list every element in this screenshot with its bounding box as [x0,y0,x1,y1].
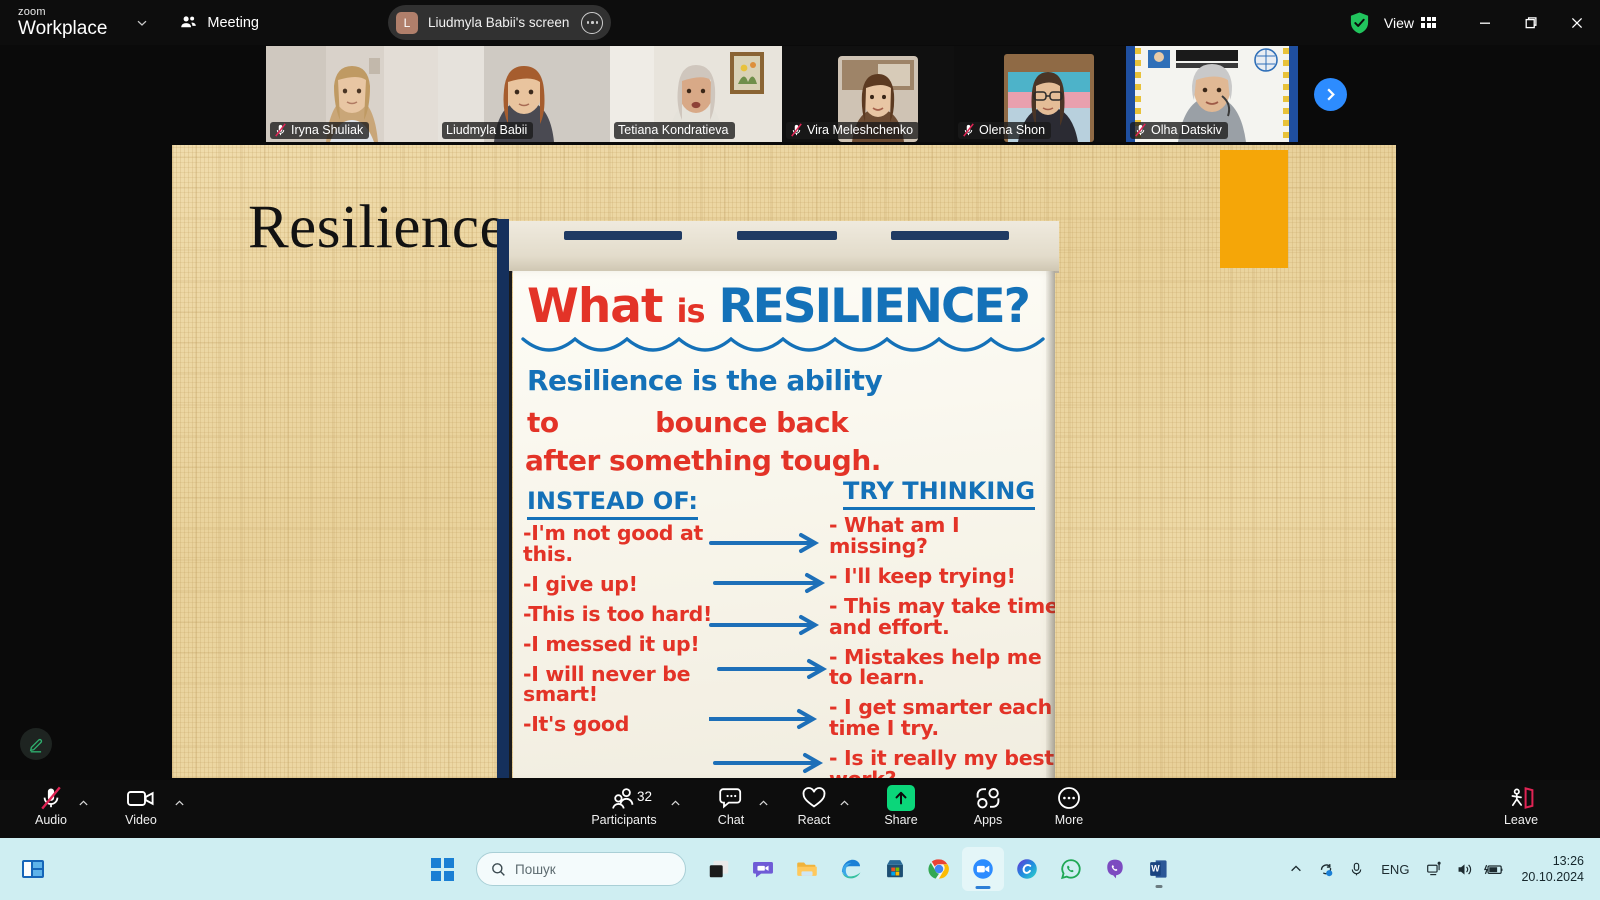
share-arrow-up-icon [887,785,915,811]
clock-date: 20.10.2024 [1521,869,1584,885]
definition-line-2: to bounce back [527,409,848,437]
definition-line-1: Resilience is the ability [527,367,882,395]
list-item: -I will never be smart! [523,664,723,706]
microphone-muted-icon [790,123,803,137]
more-button[interactable]: More [1032,785,1106,835]
list-item: - Mistakes help me to learn. [829,647,1055,689]
search-placeholder: Пошук [515,862,556,877]
svg-text:W: W [1151,864,1160,874]
close-icon[interactable] [1554,0,1600,45]
participant-name: Olena Shon [979,123,1045,137]
word-icon[interactable]: W [1138,847,1180,891]
list-item: - Is it really my best work? [829,748,1055,778]
view-button[interactable]: View [1384,15,1436,31]
zoom-meeting-window: zoom Workplace Meeting L Liudmyla Babii'… [0,0,1600,900]
slide-title: Resilience [248,193,507,263]
chevron-right-icon [1323,87,1338,102]
participants-label: Participants [591,814,656,827]
annotate-button[interactable] [20,728,52,760]
video-button[interactable]: Video [104,785,178,835]
apps-button[interactable]: Apps [951,785,1025,835]
chart-heading-part1: What [527,279,663,334]
clip-bar [737,231,837,240]
video-options-caret[interactable] [170,794,188,812]
more-label: More [1055,814,1083,827]
battery-charging-icon[interactable] [1481,854,1507,884]
file-explorer-icon[interactable] [786,847,828,891]
shared-screen-pill[interactable]: L Liudmyla Babii's screen [388,5,611,40]
title-bar: zoom Workplace Meeting L Liudmyla Babii'… [0,0,1600,45]
flipchart-header [509,221,1059,273]
definition-text-2b: bounce [655,406,767,439]
microphone-muted-icon [962,123,975,137]
chart-heading-part3: RESILIENCE? [718,279,1028,334]
participant-thumbnail[interactable]: Olena Shon [954,46,1126,142]
heart-icon [801,785,827,811]
participant-name-badge: Iryna Shuliak [270,122,369,139]
list-item: - What am I missing? [829,515,1055,557]
definition-text-2c: back [776,406,848,439]
language-indicator[interactable]: ENG [1373,862,1417,877]
participant-filmstrip: Iryna Shuliak Liudmyla Babii [266,46,1298,142]
edge-icon[interactable] [830,847,872,891]
system-tray: ENG [1283,838,1600,900]
clock-time: 13:26 [1521,853,1584,869]
ellipsis-icon [1056,785,1082,811]
react-label: React [798,814,831,827]
clip-bar [564,231,682,240]
instead-of-list: -I'm not good at this. -I give up! -This… [523,523,723,744]
pencil-annotate-icon [28,736,45,753]
definition-line-3: after something tough. [525,447,881,475]
participant-thumbnail[interactable]: Vira Meleshchenko [782,46,954,142]
microphone-muted-icon [274,123,287,137]
clip-bar [891,231,1009,240]
minimize-icon[interactable] [1462,0,1508,45]
wave-underline [521,337,1051,363]
participant-name-badge: Olena Shon [958,122,1051,139]
network-icon[interactable] [1421,854,1447,884]
brand-workplace-text: Workplace [18,19,107,38]
participants-options-caret[interactable] [666,794,684,812]
chevron-up-icon[interactable] [1283,854,1309,884]
zoom-brand-logo: zoom Workplace [18,7,107,38]
list-item: -This is too hard! [523,604,723,625]
search-input[interactable]: Пошук [476,852,686,886]
people-icon [179,13,198,32]
widgets-icon[interactable] [14,850,52,888]
list-item: - This may take time and effort. [829,596,1055,638]
chat-label: Chat [718,814,744,827]
chat-bubble-icon [718,785,744,811]
ellipsis-icon[interactable] [581,12,603,34]
chart-heading: What is RESILIENCE? [527,279,1029,334]
list-item: -I give up! [523,574,723,595]
participant-name: Tetiana Kondratieva [618,123,729,137]
window-controls-group: View [1349,0,1600,45]
resilience-anchor-chart: What is RESILIENCE? Resilience is the ab… [509,221,1059,778]
canva-icon[interactable] [1006,847,1048,891]
participant-thumbnail[interactable]: Iryna Shuliak [266,46,438,142]
list-item: - I'll keep trying! [829,566,1055,587]
taskbar-center-group: Пошук [420,838,1180,900]
leave-button[interactable]: Leave [1484,785,1558,835]
participant-name: Iryna Shuliak [291,123,363,137]
participant-name-badge: Vira Meleshchenko [786,122,919,139]
participant-name: Olha Datskiv [1151,123,1222,137]
presentation-slide: Resilience What is RESILIENCE? [172,145,1396,778]
chart-heading-part2: is [676,292,704,330]
onedrive-sync-icon[interactable] [1313,854,1339,884]
slide-accent-rectangle [1220,150,1288,268]
camera-icon [126,785,156,811]
participant-name-badge: Tetiana Kondratieva [614,122,735,139]
microphone-muted-icon [38,785,64,811]
avatar: L [396,12,418,34]
microphone-muted-icon [1134,123,1147,137]
zoom-controls-toolbar: Audio Video [0,780,1600,838]
participant-name-badge: Olha Datskiv [1130,122,1228,139]
restore-icon[interactable] [1508,0,1554,45]
participant-thumbnail[interactable]: Liudmyla Babii [438,46,610,142]
view-label: View [1384,15,1414,31]
chart-paper: What is RESILIENCE? Resilience is the ab… [513,271,1055,778]
brand-zoom-text: zoom [18,7,107,18]
list-item: -I messed it up! [523,634,723,655]
meeting-tab-label: Meeting [207,15,259,31]
participants-count: 32 [637,789,652,804]
view-layout-icon [1421,17,1436,28]
participant-thumbnail[interactable]: Olha Datskiv [1126,46,1298,142]
apps-icon [975,785,1001,811]
chevron-down-icon[interactable] [131,12,153,34]
windows-taskbar: Пошук [0,838,1600,900]
teams-chat-icon[interactable] [742,847,784,891]
microphone-icon[interactable] [1343,854,1369,884]
audio-options-caret[interactable] [74,794,92,812]
definition-text-1: Resilience is the ability [527,364,882,397]
apps-label: Apps [974,814,1003,827]
list-item: - I get smarter each time I try. [829,697,1055,739]
filmstrip-next-button[interactable] [1314,78,1347,111]
video-label: Video [125,814,157,827]
volume-icon[interactable] [1451,854,1477,884]
share-button[interactable]: Share [864,785,938,835]
viber-icon[interactable] [1094,847,1136,891]
audio-label: Audio [35,814,67,827]
column-heading-left: INSTEAD OF: [527,487,698,520]
leave-label: Leave [1504,814,1538,827]
try-thinking-list: - What am I missing? - I'll keep trying!… [829,515,1055,778]
windows-start-icon[interactable] [420,847,464,891]
arrow-group [709,529,839,778]
list-item: -It's good [523,714,723,735]
participant-name-badge: Liudmyla Babii [442,122,533,139]
list-item: -I'm not good at this. [523,523,723,565]
participant-name: Vira Meleshchenko [807,123,913,137]
security-shield-icon[interactable] [1349,11,1370,35]
chat-options-caret[interactable] [754,794,772,812]
zoom-icon[interactable] [962,847,1004,891]
participant-thumbnail-active-speaker[interactable]: Tetiana Kondratieva [610,46,782,142]
react-options-caret[interactable] [835,794,853,812]
column-heading-right: TRY THINKING [843,477,1035,510]
chrome-icon[interactable] [918,847,960,891]
participant-name: Liudmyla Babii [446,123,527,137]
share-label: Share [884,814,917,827]
meeting-tab[interactable]: Meeting [179,13,259,32]
microsoft-store-icon[interactable] [874,847,916,891]
leave-door-icon [1507,785,1535,811]
whatsapp-icon[interactable] [1050,847,1092,891]
easel-spine [497,219,509,778]
shared-screen-stage[interactable]: Resilience What is RESILIENCE? [172,145,1396,778]
people-icon [611,785,637,811]
task-view-icon[interactable] [698,847,740,891]
search-icon [491,862,506,877]
definition-text-2a: to [527,406,559,439]
definition-text-3: after something tough. [525,444,881,477]
shared-screen-label: Liudmyla Babii's screen [428,15,569,30]
taskbar-clock[interactable]: 13:26 20.10.2024 [1511,853,1590,885]
